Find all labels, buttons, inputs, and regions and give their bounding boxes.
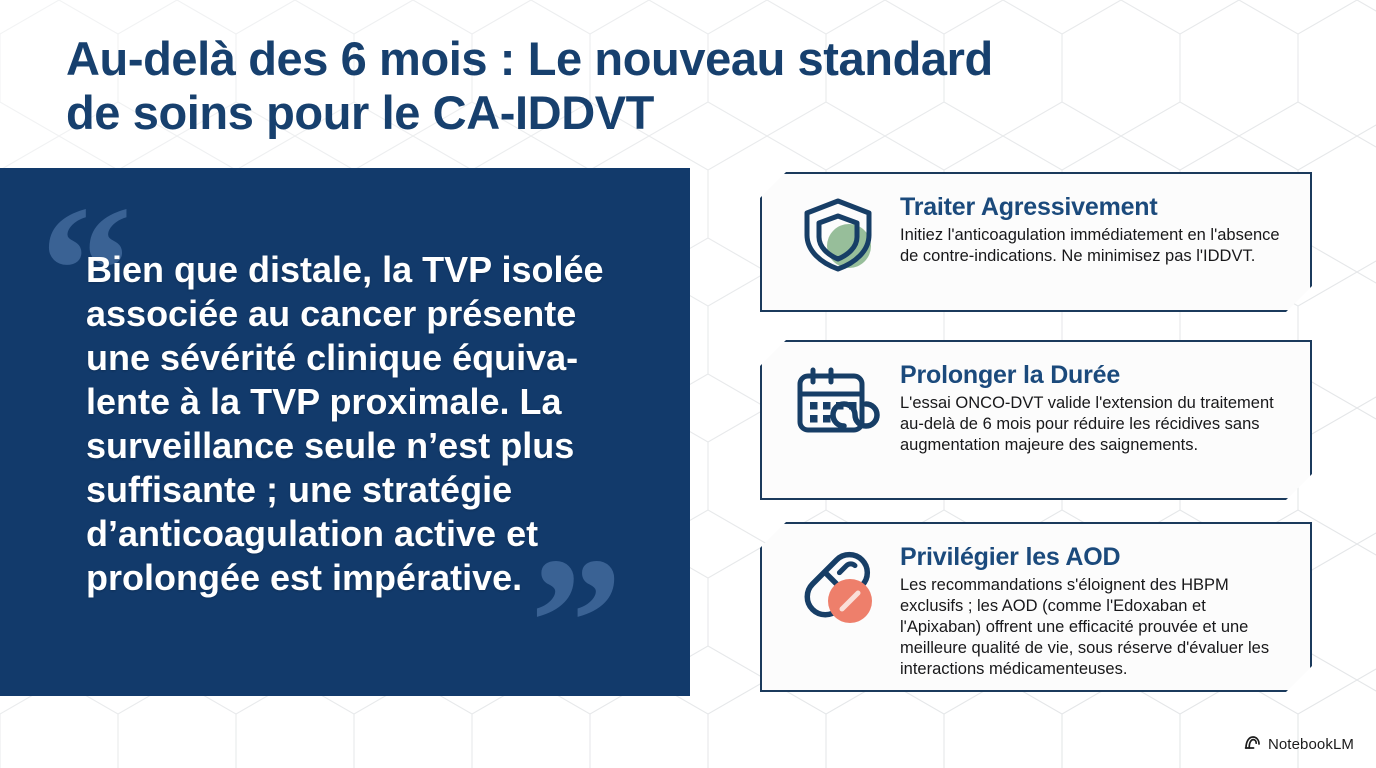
slide-canvas: Au-delà des 6 mois : Le nouveau standard… (0, 0, 1376, 768)
card-traiter-agressivement[interactable]: Traiter Agressivement Initiez l'anticoag… (760, 172, 1312, 312)
title-line-2: de soins pour le CA-IDDVT (66, 86, 1076, 140)
card-title: Prolonger la Durée (900, 360, 1288, 390)
pill-capsule-icon (788, 540, 888, 630)
notebooklm-label: NotebookLM (1268, 736, 1354, 753)
card-description: L'essai ONCO-DVT valide l'extension du t… (900, 393, 1288, 456)
card-body: Traiter Agressivement Initiez l'anticoag… (888, 190, 1288, 267)
card-body: Privilégier les AOD Les recommandations … (888, 540, 1288, 680)
page-title: Au-delà des 6 mois : Le nouveau standard… (66, 32, 1076, 140)
notebooklm-logo: NotebookLM (1244, 735, 1354, 754)
calendar-infinity-icon (788, 358, 888, 444)
shield-icon (788, 190, 888, 276)
title-line-1: Au-delà des 6 mois : Le nouveau standard (66, 32, 1076, 86)
card-title: Privilégier les AOD (900, 542, 1288, 572)
notebooklm-icon (1244, 735, 1261, 754)
quote-text: Bien que distale, la TVP isolée associée… (86, 248, 646, 600)
card-prolonger-la-duree[interactable]: Prolonger la Durée L'essai ONCO-DVT vali… (760, 340, 1312, 500)
card-title: Traiter Agressivement (900, 192, 1288, 222)
card-privilegier-les-aod[interactable]: Privilégier les AOD Les recommandations … (760, 522, 1312, 692)
card-description: Initiez l'anticoagulation immédiatement … (900, 225, 1288, 267)
card-body: Prolonger la Durée L'essai ONCO-DVT vali… (888, 358, 1288, 456)
card-description: Les recommandations s'éloignent des HBPM… (900, 575, 1288, 680)
